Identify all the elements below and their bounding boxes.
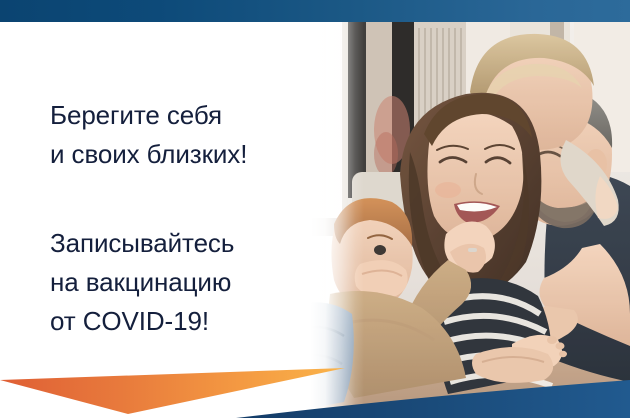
copy-block: Берегите себя и своих близких! Записывай…	[0, 22, 300, 418]
subhead-line-2: на вакцинацию	[50, 263, 234, 302]
headline-line-2: и своих близких!	[50, 135, 247, 174]
subhead-line-1: Записывайтесь	[50, 224, 234, 263]
top-blue-band	[0, 0, 630, 22]
headline-line-1: Берегите себя	[50, 96, 247, 135]
subhead-line-3: от COVID-19!	[50, 302, 234, 341]
subheadline: Записывайтесь на вакцинацию от COVID-19!	[50, 224, 234, 341]
vaccination-poster: Берегите себя и своих близких! Записывай…	[0, 0, 630, 418]
family-photo	[300, 22, 630, 418]
headline: Берегите себя и своих близких!	[50, 96, 247, 174]
